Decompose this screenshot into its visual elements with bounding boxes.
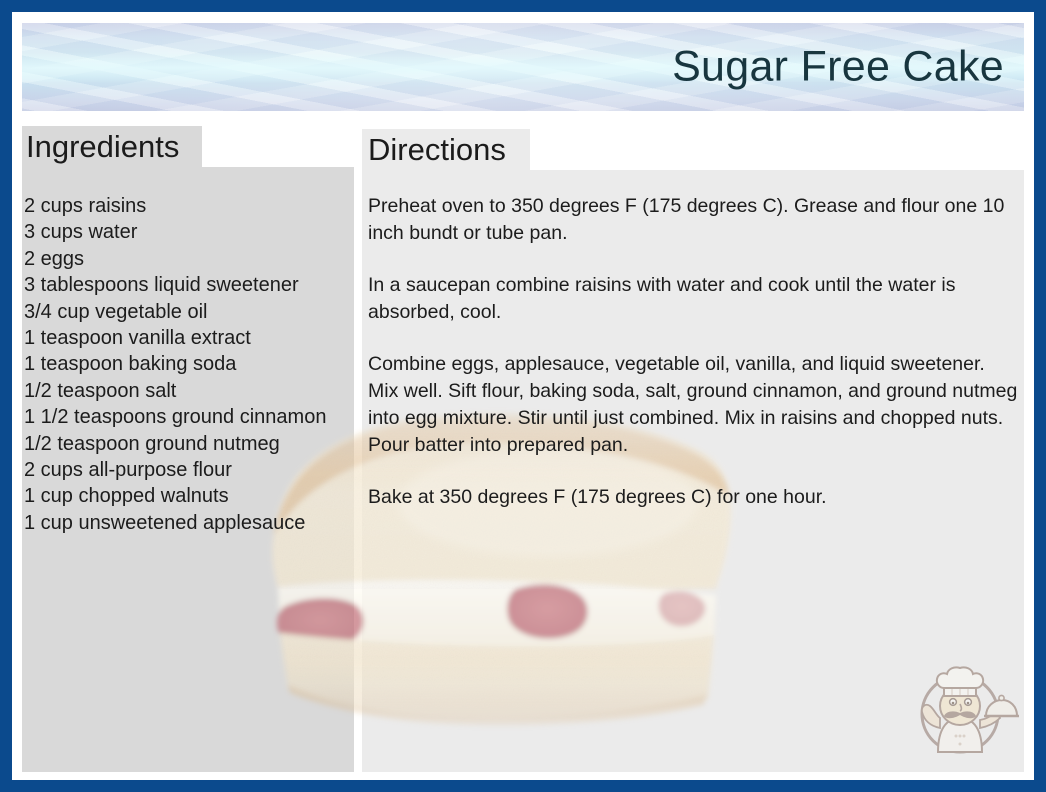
direction-step: Combine eggs, applesauce, vegetable oil,… [368, 351, 1018, 459]
recipe-card: Sugar Free Cake Ingredients 2 cups raisi… [0, 0, 1046, 792]
list-item: 2 eggs [24, 246, 354, 272]
ingredients-heading: Ingredients [26, 130, 179, 164]
title-banner: Sugar Free Cake [22, 23, 1024, 111]
ingredients-list: 2 cups raisins 3 cups water 2 eggs 3 tab… [24, 193, 354, 536]
list-item: 3 tablespoons liquid sweetener [24, 272, 354, 298]
direction-step: Bake at 350 degrees F (175 degrees C) fo… [368, 484, 1018, 511]
list-item: 2 cups all-purpose flour [24, 457, 354, 483]
list-item: 1 cup chopped walnuts [24, 483, 354, 509]
direction-step: Preheat oven to 350 degrees F (175 degre… [368, 193, 1018, 247]
list-item: 1/2 teaspoon ground nutmeg [24, 431, 354, 457]
direction-step: In a saucepan combine raisins with water… [368, 272, 1018, 326]
directions-heading: Directions [368, 133, 506, 167]
directions-list: Preheat oven to 350 degrees F (175 degre… [368, 193, 1018, 511]
list-item: 1/2 teaspoon salt [24, 378, 354, 404]
list-item: 1 teaspoon baking soda [24, 351, 354, 377]
list-item: 1 cup unsweetened applesauce [24, 510, 354, 536]
list-item: 2 cups raisins [24, 193, 354, 219]
list-item: 1 1/2 teaspoons ground cinnamon [24, 404, 354, 430]
chef-mascot-logo [900, 648, 1020, 768]
list-item: 3 cups water [24, 219, 354, 245]
list-item: 3/4 cup vegetable oil [24, 299, 354, 325]
list-item: 1 teaspoon vanilla extract [24, 325, 354, 351]
page-title: Sugar Free Cake [672, 46, 1004, 89]
